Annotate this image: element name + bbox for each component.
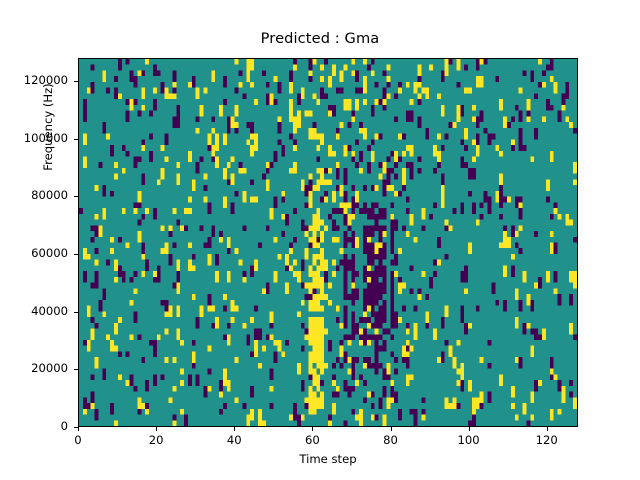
y-tick-label: 0 xyxy=(0,419,68,433)
x-tick-label: 80 xyxy=(361,433,421,447)
x-tick-label: 0 xyxy=(48,433,108,447)
y-tick xyxy=(74,81,78,82)
x-tick xyxy=(391,427,392,431)
x-tick-label: 40 xyxy=(204,433,264,447)
y-tick xyxy=(74,254,78,255)
y-tick-label: 40000 xyxy=(0,304,68,318)
x-tick-label: 100 xyxy=(439,433,499,447)
x-tick xyxy=(78,427,79,431)
y-tick-label: 120000 xyxy=(0,73,68,87)
figure-canvas: Predicted : Gma 020406080100120020000400… xyxy=(0,0,640,480)
y-tick xyxy=(74,196,78,197)
chart-title: Predicted : Gma xyxy=(0,30,640,47)
x-axis-label: Time step xyxy=(78,452,578,466)
y-tick xyxy=(74,312,78,313)
x-tick xyxy=(547,427,548,431)
x-tick xyxy=(156,427,157,431)
y-tick xyxy=(74,369,78,370)
x-tick xyxy=(469,427,470,431)
y-tick-label: 60000 xyxy=(0,246,68,260)
y-tick xyxy=(74,139,78,140)
x-tick-label: 120 xyxy=(517,433,577,447)
y-axis-label: Frequency (Hz) xyxy=(41,2,55,252)
heatmap-image xyxy=(79,59,577,426)
heatmap-axes xyxy=(78,58,578,427)
y-tick-label: 100000 xyxy=(0,131,68,145)
x-tick xyxy=(312,427,313,431)
y-tick-label: 80000 xyxy=(0,188,68,202)
x-tick-label: 20 xyxy=(126,433,186,447)
x-tick xyxy=(234,427,235,431)
y-tick-label: 20000 xyxy=(0,361,68,375)
y-tick xyxy=(74,427,78,428)
x-tick-label: 60 xyxy=(282,433,342,447)
